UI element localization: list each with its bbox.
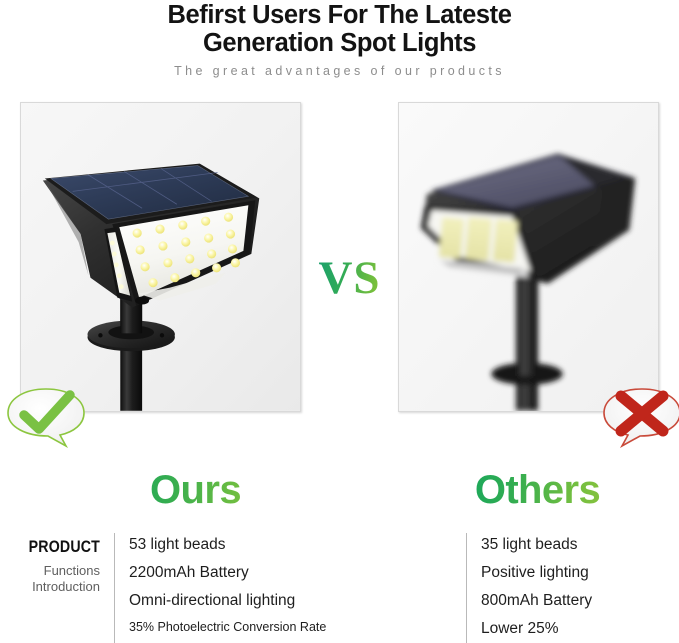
list-item: 35 light beads (481, 531, 679, 559)
others-solar-spot-light-image (399, 103, 658, 411)
product-label-sub-functions: Functions (0, 556, 100, 579)
list-item: Omni-directional lighting (129, 587, 344, 615)
ours-spec-divider (114, 533, 115, 643)
ours-brand-label: Ours (88, 467, 303, 513)
ours-product-photo-frame (20, 102, 301, 412)
others-brand-label: Others (455, 467, 620, 513)
list-item: 800mAh Battery (481, 587, 679, 615)
page-subtitle: The great advantages of our products (0, 57, 679, 78)
product-functions-label: PRODUCT Functions Introduction (0, 539, 100, 595)
ours-verdict-badge (4, 386, 88, 448)
others-spec-list: 35 light beads Positive lighting 800mAh … (481, 531, 679, 643)
list-item: 2200mAh Battery (129, 559, 344, 587)
product-label-main: PRODUCT (14, 539, 100, 556)
cross-mark-icon (600, 386, 679, 448)
page-title-line-1: Befirst Users For The Lateste (0, 1, 679, 29)
page-title: Befirst Users For The Lateste Generation… (0, 0, 679, 57)
list-item: Lower 25% (481, 615, 679, 643)
product-label-sub-introduction: Introduction (0, 579, 100, 595)
versus-label: VS (301, 252, 398, 304)
list-item: 53 light beads (129, 531, 344, 559)
check-mark-icon (4, 386, 88, 448)
ours-spec-list: 53 light beads 2200mAh Battery Omni-dire… (129, 531, 344, 639)
page-header: Befirst Users For The Lateste Generation… (0, 0, 679, 78)
list-item: 35% Photoelectric Conversion Rate (129, 615, 344, 639)
ours-solar-spot-light-image (21, 103, 300, 411)
list-item: Positive lighting (481, 559, 679, 587)
page-title-line-2: Generation Spot Lights (0, 29, 679, 57)
others-spec-divider (466, 533, 467, 643)
others-product-photo-frame (398, 102, 659, 412)
others-verdict-badge (600, 386, 679, 448)
